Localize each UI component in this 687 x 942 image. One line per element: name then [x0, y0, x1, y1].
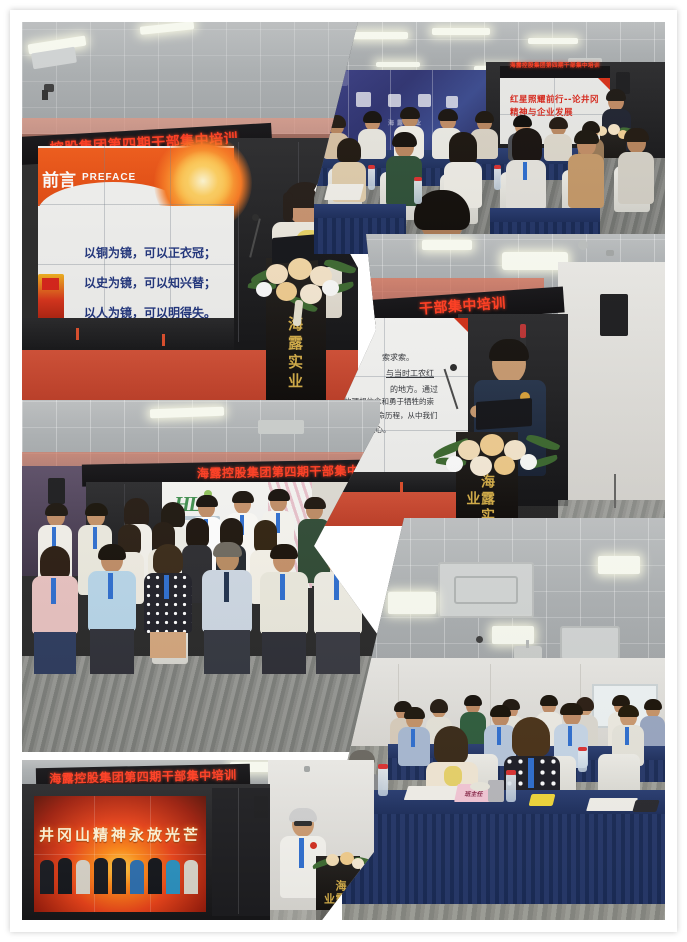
slide-heading-cn: 前言 — [42, 166, 76, 191]
notebook-2 — [586, 798, 638, 811]
panel-speaker-preface[interactable]: 控股集团第四期干部集中培训 前言 PREFACE 以铜为镜，可以正衣冠； 以史为… — [22, 22, 358, 402]
collage-canvas: 控股集团第四期干部集中培训 前言 PREFACE 以铜为镜，可以正衣冠； 以史为… — [22, 22, 665, 920]
slide-text-3-1: 索求索。 — [382, 352, 414, 363]
panel-male-speaker[interactable]: 干部集中培训 索求索。 与当时工农红 的地方。通过 的理想信念和勇于牺牲的崇 先… — [314, 234, 665, 526]
panel-closing-speech[interactable]: 海露控股集团第四期干部集中培训 井冈山精神永放光芒 — [22, 760, 374, 920]
notebook-1 — [404, 786, 461, 800]
photo-group: 海露控股集团第四期干部集中培 HL — [22, 400, 380, 752]
photo-collage: 控股集团第四期干部集中培训 前言 PREFACE 以铜为镜，可以正衣冠； 以史为… — [0, 0, 687, 942]
slide-heading-en: PREFACE — [82, 172, 136, 183]
flower-arrangement-3 — [432, 422, 562, 482]
panel-group-photo[interactable]: 海露控股集团第四期干部集中培 HL — [22, 400, 380, 752]
podium-text-1: 海露实业 — [280, 316, 302, 392]
photo-closing: 海露控股集团第四期干部集中培训 井冈山精神永放光芒 — [22, 760, 374, 920]
screen-text: 井冈山精神永放光芒 — [34, 824, 206, 845]
panel-audience-wide[interactable]: 海露实业 海露控股集团第四期干部集中培训 红星照耀前行--论井冈精神与企业发展 — [314, 22, 665, 254]
photo-audience-wide: 海露实业 海露控股集团第四期干部集中培训 红星照耀前行--论井冈精神与企业发展 — [314, 22, 665, 254]
photo-male-speaker: 干部集中培训 索求索。 与当时工农红 的地方。通过 的理想信念和勇于牺牲的崇 先… — [314, 234, 665, 526]
photo-classroom: 班主任 — [342, 518, 665, 920]
banner-text-2: 海露控股集团第四期干部集中培训 — [500, 60, 610, 72]
panel-classroom-seats[interactable]: 班主任 — [342, 518, 665, 920]
flower-arrangement-1 — [248, 244, 358, 322]
slide-text-3-3: 的地方。通过 — [390, 384, 438, 395]
photo-speaker-preface: 控股集团第四期干部集中培训 前言 PREFACE 以铜为镜，可以正衣冠； 以史为… — [22, 22, 358, 402]
slide-text-3-2: 与当时工农红 — [386, 368, 434, 379]
